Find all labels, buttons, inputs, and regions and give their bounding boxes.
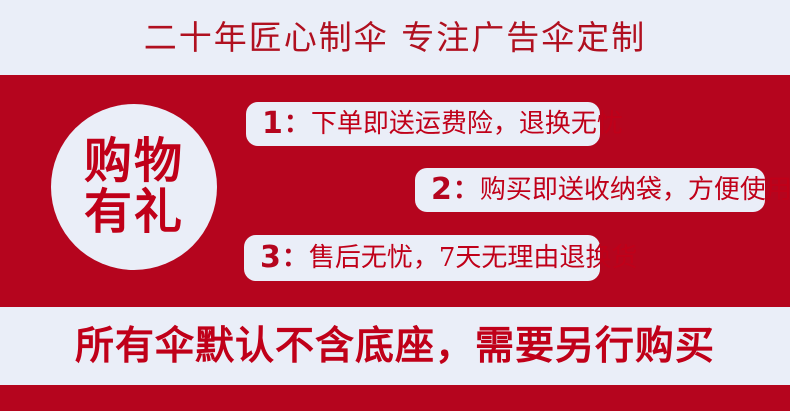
promise-text-2: 购买即送收纳袋，方便使用 — [480, 177, 790, 203]
promise-colon-1: ： — [284, 111, 310, 137]
promise-number-1: 1 — [262, 109, 283, 139]
promo-poster: 二十年匠心制伞 专注广告伞定制 购物 有礼 1 ： 下单即送运费险，退换无忧 2… — [0, 0, 790, 411]
promise-number-2: 2 — [431, 175, 452, 205]
promise-colon-2: ： — [453, 177, 479, 203]
header-band: 二十年匠心制伞 专注广告伞定制 — [0, 0, 790, 75]
gift-badge-line-1: 购物 — [84, 136, 184, 187]
promise-item-1: 1 ： 下单即送运费险，退换无忧 — [246, 102, 600, 146]
promise-item-2: 2 ： 购买即送收纳袋，方便使用 — [415, 168, 765, 212]
gift-badge-line-2: 有礼 — [84, 187, 184, 238]
gift-badge: 购物 有礼 — [51, 104, 217, 270]
promise-item-3: 3 ： 售后无忧，7天无理由退换货 — [244, 235, 600, 281]
promise-number-3: 3 — [260, 243, 281, 273]
promise-text-1: 下单即送运费险，退换无忧 — [311, 111, 623, 137]
promise-colon-3: ： — [282, 245, 308, 271]
footer-band: 所有伞默认不含底座，需要另行购买 — [0, 307, 790, 385]
promise-text-3: 售后无忧，7天无理由退换货 — [309, 245, 638, 271]
promo-body: 购物 有礼 1 ： 下单即送运费险，退换无忧 2 ： 购买即送收纳袋，方便使用 … — [0, 75, 790, 307]
headline-text: 二十年匠心制伞 专注广告伞定制 — [144, 21, 647, 54]
footer-red-strip — [0, 385, 790, 411]
footer-notice-text: 所有伞默认不含底座，需要另行购买 — [75, 327, 715, 366]
